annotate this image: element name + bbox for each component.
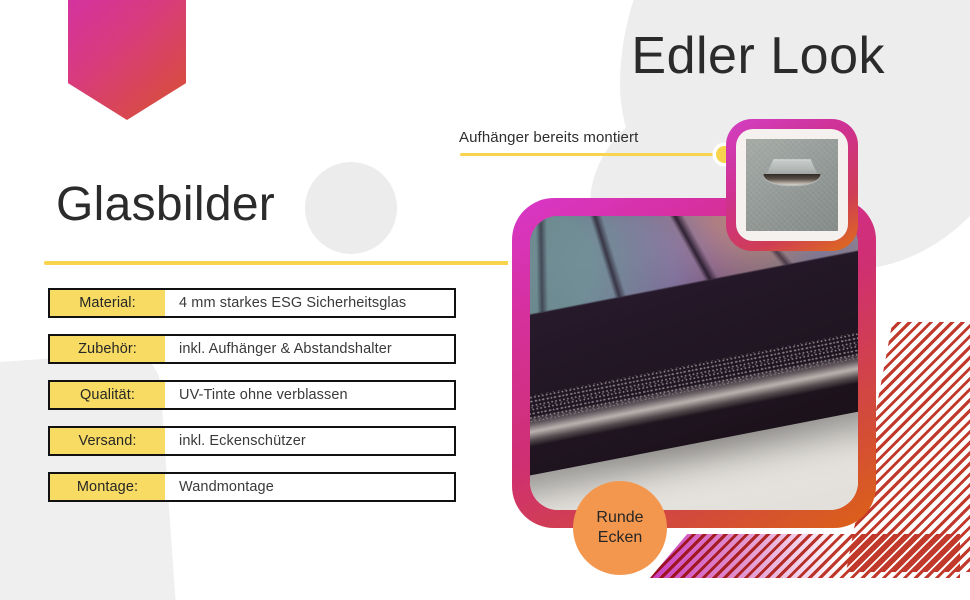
table-row: Versand: inkl. Eckenschützer <box>48 426 456 456</box>
shield-badge-icon <box>68 0 186 120</box>
hanger-inset-matte <box>736 129 848 241</box>
table-row: Material: 4 mm starkes ESG Sicherheitsgl… <box>48 288 456 318</box>
table-row: Zubehör: inkl. Aufhänger & Abstandshalte… <box>48 334 456 364</box>
callout-round-corners-line1: Runde <box>596 508 643 528</box>
hanger-slot-shape <box>763 174 820 185</box>
poster-canvas: Edler Look Glasbilder Material: 4 mm sta… <box>0 0 970 600</box>
hanger-plate-icon <box>746 139 838 231</box>
callout-round-corners: Runde Ecken <box>573 481 667 575</box>
spec-key: Montage: <box>50 474 165 500</box>
callout-round-corners-line2: Ecken <box>598 528 642 548</box>
spec-value: 4 mm starkes ESG Sicherheitsglas <box>165 290 454 316</box>
hanger-bracket-shape <box>766 159 818 175</box>
product-photo-icon <box>530 216 858 510</box>
diagonal-stripes-pattern-bottom-icon <box>650 534 960 578</box>
table-row: Qualität: UV-Tinte ohne verblassen <box>48 380 456 410</box>
headline-edler-look: Edler Look <box>631 26 885 86</box>
spec-table: Material: 4 mm starkes ESG Sicherheitsgl… <box>48 288 456 518</box>
annotation-hanger-label: Aufhänger bereits montiert <box>459 129 638 146</box>
table-row: Montage: Wandmontage <box>48 472 456 502</box>
hanger-connector-line-icon <box>460 153 725 156</box>
spec-key: Versand: <box>50 428 165 454</box>
spec-value: inkl. Aufhänger & Abstandshalter <box>165 336 454 362</box>
grey-circle-accent-icon <box>305 162 397 254</box>
spec-value: UV-Tinte ohne verblassen <box>165 382 454 408</box>
spec-key: Material: <box>50 290 165 316</box>
main-connector-line-icon <box>44 261 526 265</box>
spec-key: Qualität: <box>50 382 165 408</box>
hanger-inset-frame <box>726 119 858 251</box>
spec-value: inkl. Eckenschützer <box>165 428 454 454</box>
spec-value: Wandmontage <box>165 474 454 500</box>
spec-key: Zubehör: <box>50 336 165 362</box>
page-title: Glasbilder <box>56 177 275 232</box>
